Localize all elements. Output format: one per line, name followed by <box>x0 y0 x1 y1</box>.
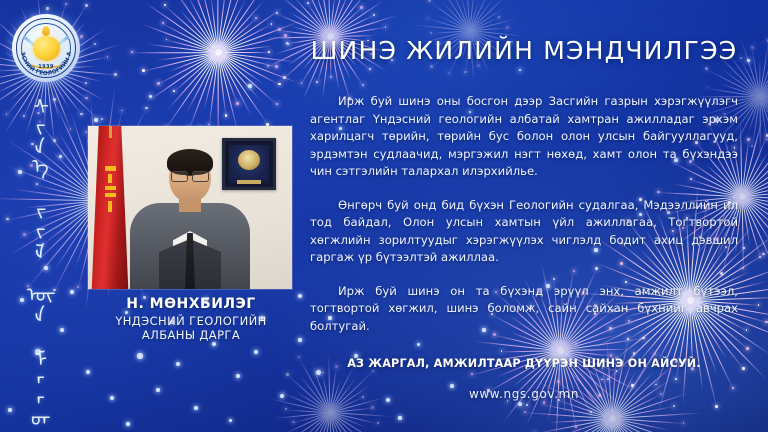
greeting-paragraphs: Ирж буй шинэ оны босгон дээр Засгийн газ… <box>310 93 738 335</box>
sparkle <box>18 170 21 173</box>
sparkle <box>280 394 284 398</box>
sparkle <box>287 43 290 46</box>
sparkle <box>518 402 522 406</box>
sparkle <box>254 350 258 354</box>
sparkle <box>8 408 12 412</box>
sparkle <box>212 342 217 347</box>
sparkle <box>149 95 152 98</box>
sparkle <box>156 388 159 391</box>
sparkle <box>194 406 198 410</box>
logo-arc-text: ҮНДЭСНИЙ ГЕОЛОГИЙН АЛБА <box>12 14 80 82</box>
greeting-paragraph: Ирж буй шинэ оны босгон дээр Засгийн газ… <box>310 93 738 181</box>
ngs-logo: 1939 ҮНДЭСНИЙ ГЕОЛОГИЙН АЛБА <box>12 14 80 82</box>
sparkle <box>126 422 129 425</box>
sparkle <box>747 59 750 62</box>
flag-pole <box>109 126 112 138</box>
svg-text:ҮНДЭСНИЙ ГЕОЛОГИЙН АЛБА: ҮНДЭСНИЙ ГЕОЛОГИЙН АЛБА <box>12 14 73 77</box>
plaque-nameplate <box>237 180 261 184</box>
person-name: Н. МӨНХБИЛЭГ <box>58 296 324 312</box>
sparkle <box>398 416 401 419</box>
director-photo <box>88 126 292 289</box>
website-url[interactable]: www.ngs.gov.mn <box>310 387 738 401</box>
sparkle <box>137 353 142 358</box>
person-title-line-2: АЛБАНЫ ДАРГА <box>58 328 324 342</box>
photo-glasses-icon <box>170 171 210 180</box>
sparkle <box>176 362 180 366</box>
wall-plaque <box>222 138 276 190</box>
sparkle <box>94 118 97 121</box>
greeting-content: ШИНЭ ЖИЛИЙН МЭНДЧИЛГЭЭ Ирж буй шинэ оны … <box>310 30 738 401</box>
sparkle <box>229 419 232 422</box>
sparkle <box>248 84 251 87</box>
sparkle <box>236 374 240 378</box>
person-title-line-1: ҮНДЭСНИЙ ГЕОЛОГИЙН <box>58 314 324 328</box>
sparkle <box>110 396 114 400</box>
sparkle <box>86 370 90 374</box>
new-year-greeting-poster: 1939 ҮНДЭСНИЙ ГЕОЛОГИЙН АЛБА ᠰᠢᠨ᠎ᠡ ᠵᠢᠯ ᠦ… <box>0 0 768 432</box>
closing-wish: АЗ ЖАРГАЛ, АМЖИЛТААР ДҮҮРЭН ШИНЭ ОН АЙСУ… <box>310 357 738 370</box>
greeting-paragraph: Өнгөрч буй онд бид бүхэн Геологийн судал… <box>310 197 738 267</box>
greeting-paragraph: Ирж буй шинэ он та бүхэнд эрүүл энх, амж… <box>310 283 738 336</box>
page-title: ШИНЭ ЖИЛИЙН МЭНДЧИЛГЭЭ <box>310 30 738 65</box>
soyombo-symbol-icon <box>104 166 117 214</box>
person-caption: Н. МӨНХБИЛЭГ ҮНДЭСНИЙ ГЕОЛОГИЙН АЛБАНЫ Д… <box>58 296 324 342</box>
